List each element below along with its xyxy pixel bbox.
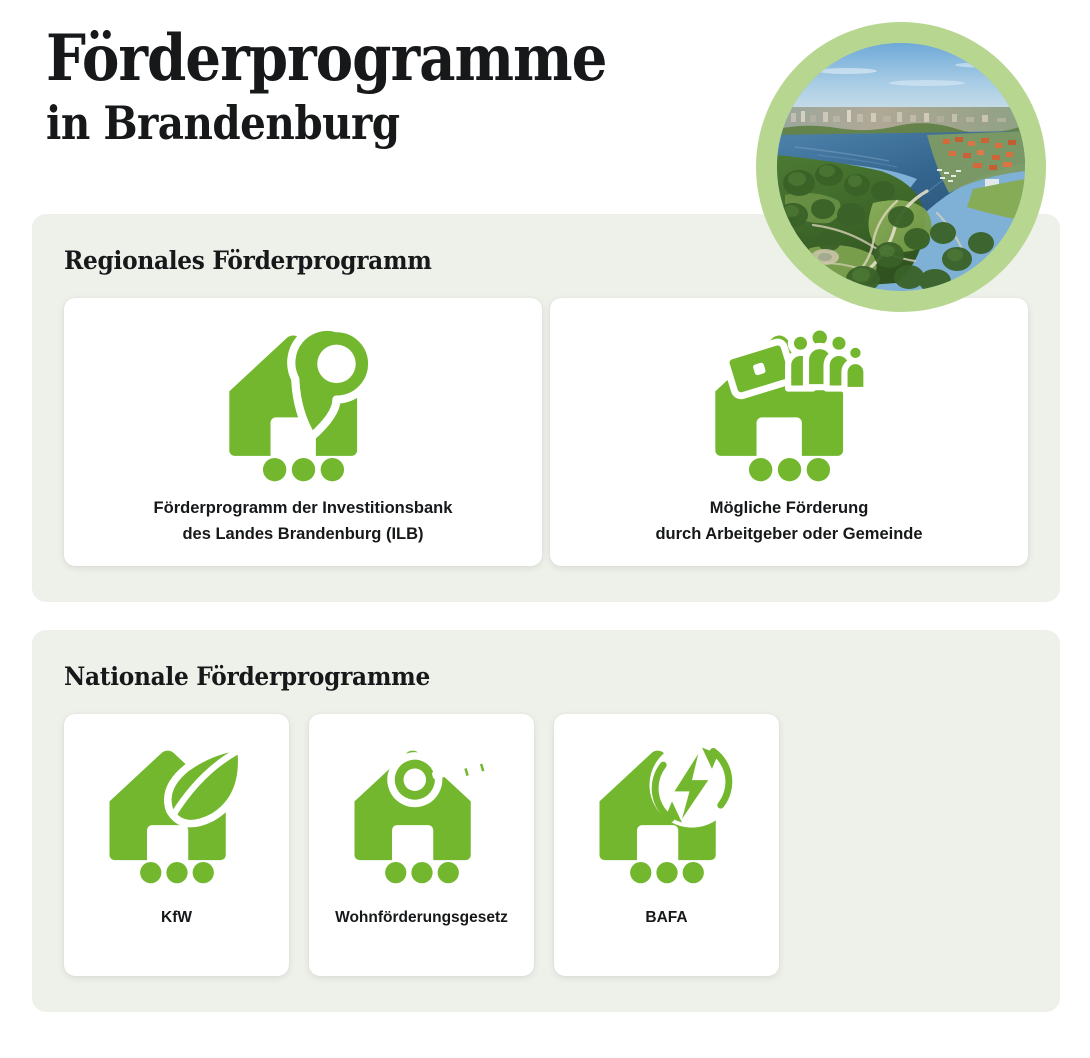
aerial-river-town-image — [777, 43, 1025, 291]
card-kfw[interactable]: KfW — [64, 714, 289, 976]
page-title: Förderprogramme — [46, 26, 662, 91]
card-label: BAFA — [627, 906, 705, 930]
section-title-regional: Regionales Förderprogramm — [64, 246, 432, 275]
page-header: Förderprogramme in Brandenburg — [46, 26, 746, 148]
section-title-national: Nationale Förderprogramme — [64, 662, 430, 691]
card-bafa[interactable]: BAFA — [554, 714, 779, 976]
card-label: Wohnförderungsgesetz — [317, 906, 526, 930]
house-energy-icon — [592, 738, 742, 886]
card-ilb-foerderprogramm[interactable]: Förderprogramm der Investitionsbank des … — [64, 298, 542, 566]
section-nationale-foerderprogramme: Nationale Förderprogramme KfW — [32, 630, 1060, 1012]
card-label: Förderprogramm der Investitionsbank des … — [136, 496, 471, 547]
hero-photo — [777, 43, 1025, 291]
house-map-pin-icon — [221, 324, 386, 482]
infographic-page: Förderprogramme in Brandenburg — [0, 0, 1090, 1058]
hero-photo-ring — [756, 22, 1046, 312]
card-arbeitgeber-gemeinde[interactable]: Mögliche Förderung durch Arbeitgeber ode… — [550, 298, 1028, 566]
house-leaf-icon — [102, 738, 252, 886]
card-label: KfW — [143, 906, 210, 930]
house-briefcase-people-icon — [707, 324, 872, 482]
card-wohnfoerderungsgesetz[interactable]: Wohnförderungsgesetz — [309, 714, 534, 976]
house-key-icon — [347, 738, 497, 886]
page-subtitle: in Brandenburg — [46, 99, 662, 147]
card-label: Mögliche Förderung durch Arbeitgeber ode… — [637, 496, 940, 547]
